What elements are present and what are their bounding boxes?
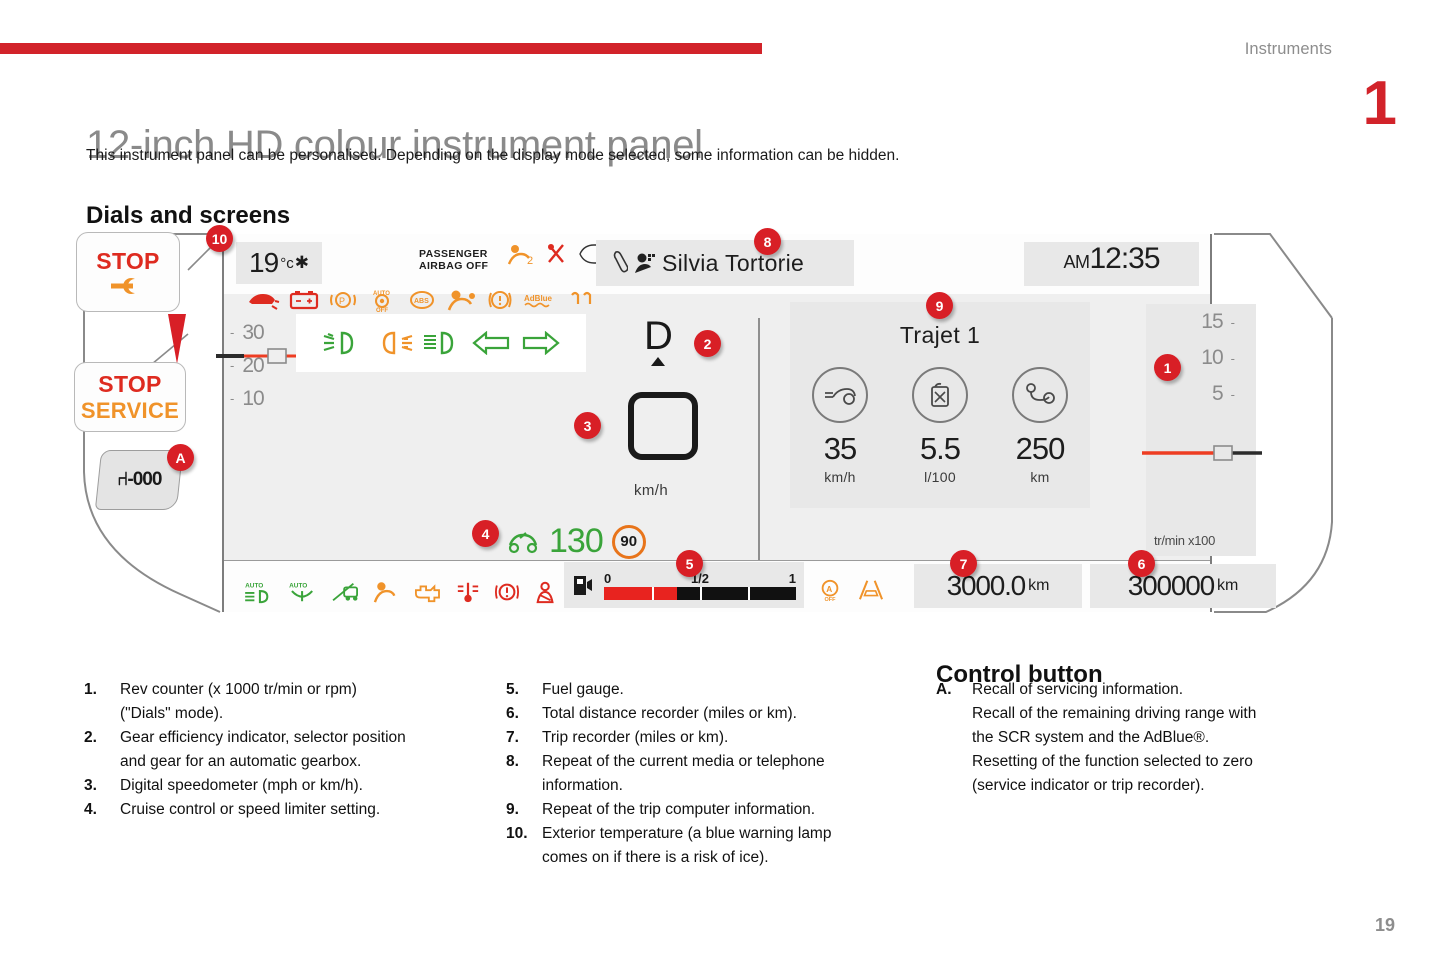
instrument-cluster-diagram: STOP STOP SERVICE ⑁-000 A 19 °c ✱ bbox=[70, 222, 1360, 622]
svg-text:OFF: OFF bbox=[824, 597, 836, 602]
legend-item-continuation: and gear for an automatic gearbox. bbox=[84, 750, 484, 774]
badge-3: 3 bbox=[574, 412, 601, 439]
seatbelt-warning-icon bbox=[532, 580, 560, 604]
scale-tick: - bbox=[230, 391, 233, 406]
gear-selector-indicator: D bbox=[644, 318, 673, 366]
legend-item-number: 7. bbox=[506, 726, 542, 750]
rev-row-5: 5 - bbox=[1146, 376, 1256, 412]
legend-item: 10.Exterior temperature (a blue warning … bbox=[506, 822, 926, 846]
legend-item-text: Digital speedometer (mph or km/h). bbox=[120, 774, 484, 798]
rev-counter-panel: 15 - 10 - 5 - tr/min x100 bbox=[1146, 304, 1256, 556]
total-distance-tile: 300000 km bbox=[1090, 564, 1276, 608]
service-label: SERVICE bbox=[81, 398, 179, 424]
brake-warning-icon bbox=[492, 580, 522, 604]
scale-label-30: 30 bbox=[242, 321, 263, 345]
legend-item-continuation: information. bbox=[506, 774, 926, 798]
legend-item-number: 5. bbox=[506, 678, 542, 702]
legend-column-control-button: A.Recall of servicing information.Recall… bbox=[936, 678, 1336, 798]
legend-item-text: Trip recorder (miles or km). bbox=[542, 726, 926, 750]
media-info-tile: Silvia Tortorie bbox=[596, 240, 854, 286]
stop-label-2: STOP bbox=[98, 371, 161, 398]
left-indicator-icon bbox=[472, 331, 512, 355]
legend-item-continuation: Recall of the remaining driving range wi… bbox=[936, 702, 1336, 726]
svg-text:2: 2 bbox=[527, 255, 533, 266]
auto-wiper-icon: AUTO bbox=[286, 580, 320, 604]
legend-item-number: 4. bbox=[84, 798, 120, 822]
callout-stop-service: STOP SERVICE bbox=[74, 362, 186, 432]
fuel-label-min: 0 bbox=[604, 571, 611, 586]
legend-item: 3.Digital speedometer (mph or km/h). bbox=[84, 774, 484, 798]
fuel-consumption-value: 5.5 bbox=[891, 431, 990, 467]
scale-tick: - bbox=[230, 325, 233, 340]
hill-descent-icon bbox=[330, 580, 362, 604]
auto-assist-lamp-row: A OFF bbox=[816, 578, 888, 602]
cruise-control-icon bbox=[506, 529, 540, 555]
legend-item: A.Recall of servicing information. bbox=[936, 678, 1336, 702]
callout-stop-wrench: STOP bbox=[76, 232, 180, 312]
fuel-bar-labels: 0 1/2 1 bbox=[604, 571, 796, 586]
ice-warning-icon: ✱ bbox=[295, 253, 309, 273]
badge-8: 8 bbox=[754, 228, 781, 255]
svg-text:ABS: ABS bbox=[414, 298, 429, 305]
badge-2: 2 bbox=[694, 330, 721, 357]
media-contact-name: Silvia Tortorie bbox=[662, 250, 804, 277]
airbag-icon bbox=[447, 288, 477, 312]
gear-letter: D bbox=[644, 318, 673, 354]
distance-value: 250 bbox=[991, 431, 1090, 467]
legend-item-text: Gear efficiency indicator, selector posi… bbox=[120, 726, 484, 750]
header-rule bbox=[0, 43, 762, 54]
svg-text:AdBlue: AdBlue bbox=[524, 294, 553, 303]
rev-needle bbox=[1140, 444, 1290, 462]
fuel-pump-icon bbox=[572, 572, 598, 598]
total-distance-unit: km bbox=[1217, 577, 1238, 595]
trip-computer-title: Trajet 1 bbox=[790, 322, 1090, 349]
legend-item-text: Cruise control or speed limiter setting. bbox=[120, 798, 484, 822]
legend-item-number: 3. bbox=[84, 774, 120, 798]
rev-tick: - bbox=[1231, 387, 1234, 402]
headlamp-indicator-band bbox=[296, 314, 586, 372]
badge-1: 1 bbox=[1154, 354, 1181, 381]
speed-limit-sign: 90 bbox=[612, 525, 646, 559]
legend-item-continuation: comes on if there is a risk of ice). bbox=[506, 846, 926, 870]
rev-tick: - bbox=[1231, 351, 1234, 366]
legend-item: 7.Trip recorder (miles or km). bbox=[506, 726, 926, 750]
gear-efficiency-arrow-icon bbox=[651, 357, 665, 366]
phone-handset-icon bbox=[612, 250, 628, 276]
digital-speedometer-box bbox=[628, 392, 698, 460]
wrench-icon bbox=[105, 275, 151, 297]
legend-item-text: Fuel gauge. bbox=[542, 678, 926, 702]
clock-time: 12:35 bbox=[1089, 242, 1159, 276]
cluster-screen: 19 °c ✱ PASSENGER AIRBAG OFF 2 bbox=[222, 234, 1212, 612]
rev-row-15: 15 - bbox=[1146, 304, 1256, 340]
cruise-control-display: 130 90 bbox=[506, 522, 646, 561]
trip-computer-panel: Trajet 1 35 km/h bbox=[790, 302, 1090, 508]
trip-item: 250 km bbox=[991, 367, 1090, 485]
bottom-warning-lamp-row: AUTO AUTO bbox=[242, 580, 600, 604]
rev-label-10: 10 bbox=[1201, 346, 1222, 370]
badge-6: 6 bbox=[1128, 550, 1155, 577]
trip-recorder-unit: km bbox=[1028, 577, 1049, 595]
seatbelt-icon bbox=[543, 242, 569, 266]
fuel-bar-track bbox=[604, 587, 796, 600]
svg-text:AUTO: AUTO bbox=[245, 582, 263, 589]
legend-item-number: 9. bbox=[506, 798, 542, 822]
stop-start-off-icon: A OFF bbox=[816, 578, 844, 602]
engine-diagnostics-icon bbox=[410, 580, 444, 604]
legend-item-text: Exterior temperature (a blue warning lam… bbox=[542, 822, 926, 846]
badge-5: 5 bbox=[676, 550, 703, 577]
fuel-consumption-icon bbox=[912, 367, 968, 423]
legend-column-left: 1.Rev counter (x 1000 tr/min or rpm)("Di… bbox=[84, 678, 484, 822]
right-indicator-icon bbox=[520, 331, 560, 355]
fuel-label-max: 1 bbox=[789, 571, 796, 586]
legend-item-number: 2. bbox=[84, 726, 120, 750]
clock-tile: AM 12:35 bbox=[1024, 242, 1199, 286]
legend-item-text: Repeat of the trip computer information. bbox=[542, 798, 926, 822]
manual-page: Instruments 1 12-inch HD colour instrume… bbox=[0, 0, 1445, 964]
battery-icon bbox=[289, 288, 319, 312]
average-speed-icon bbox=[812, 367, 868, 423]
svg-text:AUTO: AUTO bbox=[373, 291, 390, 297]
distance-unit: km bbox=[991, 469, 1090, 485]
legend-item-text: Repeat of the current media or telephone bbox=[542, 750, 926, 774]
trip-recorder-tile: 3000.0 km bbox=[914, 564, 1082, 608]
svg-text:P: P bbox=[339, 296, 345, 306]
clock-ampm: AM bbox=[1063, 252, 1089, 273]
oil-pressure-icon bbox=[246, 288, 280, 312]
legend-item-number: A. bbox=[936, 678, 972, 702]
fuel-bar-tick bbox=[700, 587, 702, 600]
rev-tick: - bbox=[1231, 315, 1234, 330]
abs-icon: ABS bbox=[406, 288, 438, 312]
airbag-warning-icon bbox=[372, 580, 400, 604]
trip-item: 35 km/h bbox=[791, 367, 890, 485]
legend-item-text: Total distance recorder (miles or km). bbox=[542, 702, 926, 726]
temperature-unit: °c bbox=[280, 255, 294, 272]
scale-label-10: 10 bbox=[242, 387, 263, 411]
legend-item-number: 1. bbox=[84, 678, 120, 702]
parking-brake-icon: P bbox=[328, 288, 358, 312]
legend-item-number: 8. bbox=[506, 750, 542, 774]
scale-row-10: - 10 bbox=[230, 382, 350, 415]
secondary-warning-lamp-row: P AUTO OFF ABS bbox=[246, 288, 598, 312]
fuel-bar-tick bbox=[652, 587, 654, 600]
page-number: 19 bbox=[1375, 915, 1395, 936]
legend-item-number: 10. bbox=[506, 822, 542, 846]
screen-divider bbox=[758, 318, 760, 573]
average-speed-unit: km/h bbox=[791, 469, 890, 485]
fuel-bar-fill bbox=[604, 587, 677, 600]
coolant-temperature-icon bbox=[454, 580, 482, 604]
adblue-icon: AdBlue bbox=[523, 288, 559, 312]
fuel-level-bar: 0 1/2 1 bbox=[604, 571, 796, 600]
auto-hold-off-icon: AUTO OFF bbox=[367, 288, 397, 312]
legend-item: 4.Cruise control or speed limiter settin… bbox=[84, 798, 484, 822]
legend-item-continuation: (service indicator or trip recorder). bbox=[936, 774, 1336, 798]
legend-item: 6.Total distance recorder (miles or km). bbox=[506, 702, 926, 726]
speedometer-unit: km/h bbox=[634, 482, 668, 499]
airbag-line-2: AIRBAG OFF bbox=[419, 260, 488, 272]
badge-7: 7 bbox=[950, 550, 977, 577]
legend-item: 8.Repeat of the current media or telepho… bbox=[506, 750, 926, 774]
control-button-label: ⑁-000 bbox=[117, 469, 161, 491]
trip-computer-values: 35 km/h 5.5 l/100 bbox=[790, 367, 1090, 485]
main-beam-icon bbox=[422, 330, 464, 356]
rev-counter-unit: tr/min x100 bbox=[1154, 533, 1215, 548]
exterior-temperature-tile: 19 °c ✱ bbox=[236, 242, 322, 284]
chapter-number: 1 bbox=[1363, 78, 1397, 131]
badge-9: 9 bbox=[926, 292, 953, 319]
airbag-passenger-icon: 2 bbox=[506, 242, 536, 266]
badge-4: 4 bbox=[472, 520, 499, 547]
average-speed-value: 35 bbox=[791, 431, 890, 467]
fuel-consumption-unit: l/100 bbox=[891, 469, 990, 485]
rev-label-15: 15 bbox=[1201, 310, 1222, 334]
trip-item: 5.5 l/100 bbox=[891, 367, 990, 485]
legend-column-middle: 5.Fuel gauge.6.Total distance recorder (… bbox=[506, 678, 926, 870]
fuel-bar-tick bbox=[748, 587, 750, 600]
svg-text:A: A bbox=[826, 584, 832, 594]
legend-item: 1.Rev counter (x 1000 tr/min or rpm) bbox=[84, 678, 484, 702]
legend-item: 5.Fuel gauge. bbox=[506, 678, 926, 702]
cruise-control-value: 130 bbox=[549, 522, 603, 561]
legend-item: 2.Gear efficiency indicator, selector po… bbox=[84, 726, 484, 750]
chapter-name: Instruments bbox=[1245, 40, 1332, 59]
tyre-pressure-icon bbox=[486, 288, 514, 312]
legend-item-text: Recall of servicing information. bbox=[972, 678, 1336, 702]
svg-text:OFF: OFF bbox=[376, 308, 388, 312]
distance-icon bbox=[1012, 367, 1068, 423]
lane-departure-warning-icon bbox=[854, 578, 888, 602]
temperature-value: 19 bbox=[249, 247, 278, 279]
legend-item-number: 6. bbox=[506, 702, 542, 726]
passenger-airbag-off-label: PASSENGER AIRBAG OFF bbox=[419, 248, 488, 272]
badge-10: 10 bbox=[206, 225, 233, 252]
front-fog-lamp-icon bbox=[322, 330, 364, 356]
glow-plug-preheat-icon bbox=[568, 288, 598, 312]
airbag-line-1: PASSENGER bbox=[419, 248, 488, 260]
auto-headlamp-icon: AUTO bbox=[242, 580, 276, 604]
stop-label: STOP bbox=[96, 248, 159, 275]
contact-icon bbox=[634, 252, 656, 274]
rev-label-5: 5 bbox=[1212, 382, 1223, 406]
legend-item-continuation: the SCR system and the AdBlue®. bbox=[936, 726, 1336, 750]
legend-item: 9.Repeat of the trip computer informatio… bbox=[506, 798, 926, 822]
legend-item-continuation: ("Dials" mode). bbox=[84, 702, 484, 726]
svg-text:AUTO: AUTO bbox=[289, 582, 307, 589]
rear-fog-lamp-icon bbox=[372, 330, 414, 356]
legend-item-text: Rev counter (x 1000 tr/min or rpm) bbox=[120, 678, 484, 702]
intro-paragraph: This instrument panel can be personalise… bbox=[86, 147, 899, 165]
legend-item-continuation: Resetting of the function selected to ze… bbox=[936, 750, 1336, 774]
badge-A: A bbox=[167, 444, 194, 471]
